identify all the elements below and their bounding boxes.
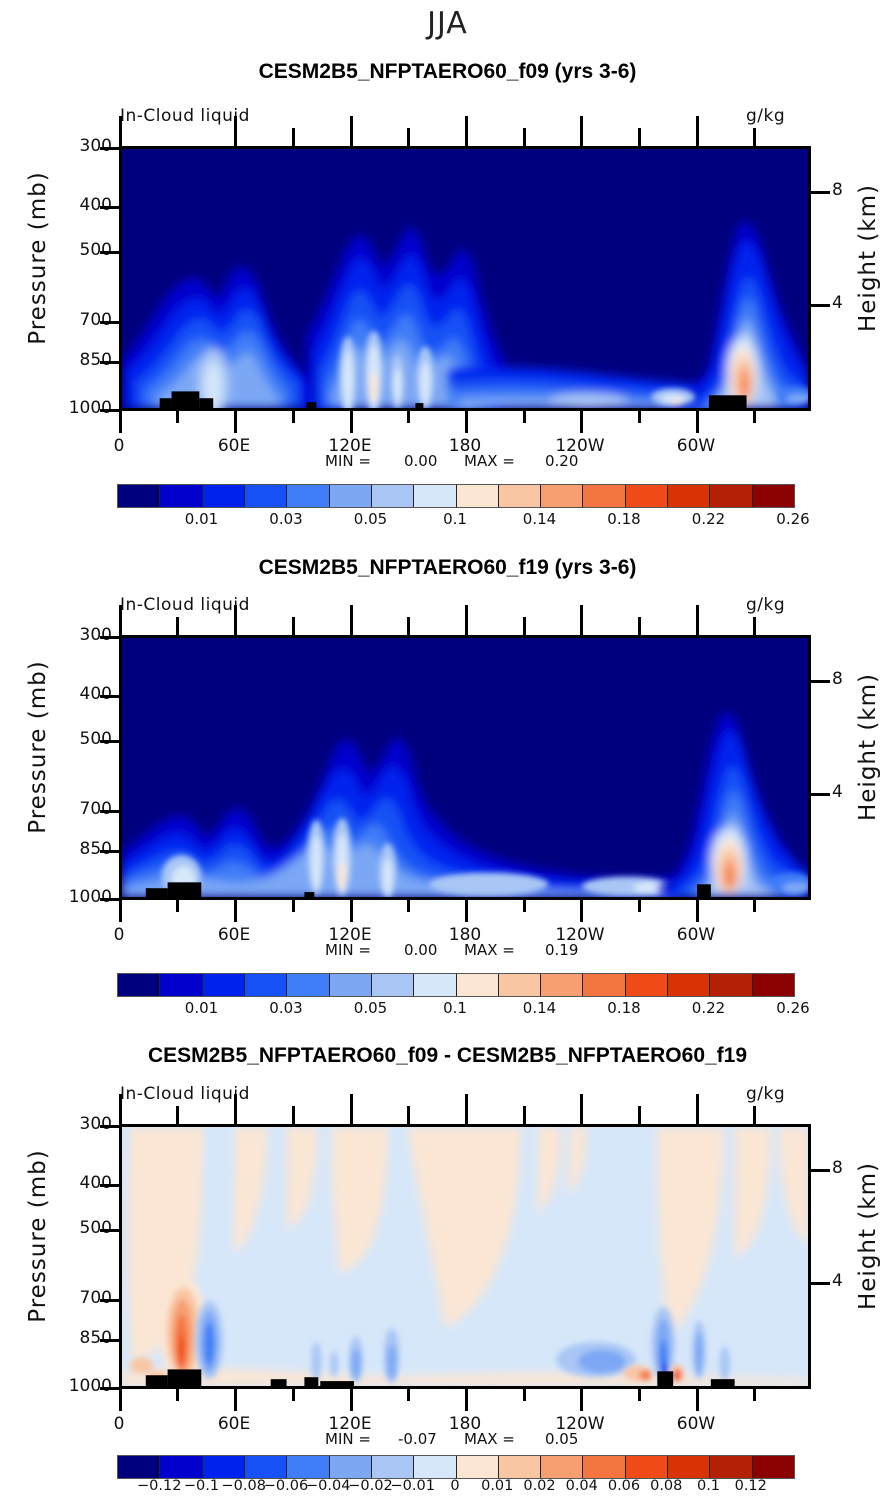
panel-3-xtick-0 xyxy=(119,1389,122,1411)
panel-3-xtick-120E xyxy=(350,1389,353,1411)
colorbar-segment-5 xyxy=(330,485,372,507)
colorbar-tick-label: 0.22 xyxy=(692,510,725,528)
colorbar-segment-10 xyxy=(541,974,583,996)
panel-3-y2tick-4: 4 xyxy=(832,1271,843,1291)
panel-2-xtick-top-120W xyxy=(580,605,583,635)
panel-3-xtick-top-180 xyxy=(465,1094,468,1124)
panel-2-ytick-mark-300 xyxy=(100,636,122,639)
panel-3-xtick-top-minor-a xyxy=(176,1106,179,1124)
colorbar-tick-label: 0.12 xyxy=(735,1478,767,1494)
panel-3-xtick-minor-d xyxy=(523,1389,526,1401)
panel-1-xtick-top-0 xyxy=(119,116,122,146)
colorbar-tick-label: 0.1 xyxy=(443,999,467,1017)
panel-1-xtick-top-120W xyxy=(580,116,583,146)
panel-2-units-label: g/kg xyxy=(746,595,785,615)
panel-1-ytick-mark-1000 xyxy=(100,409,122,412)
colorbar-tick-label: 0.03 xyxy=(269,510,302,528)
panel-2-xlabel-60E: 60E xyxy=(204,925,264,945)
panel-1-xtick-minor-b xyxy=(292,411,295,423)
panel-3-xtick-minor-c xyxy=(407,1389,410,1401)
panel-3-xtick-top-120W xyxy=(580,1094,583,1124)
panel-2-xtick-top-60E xyxy=(234,605,237,635)
colorbar-tick-label: 0.26 xyxy=(776,999,809,1017)
panel-2-colorbar[interactable] xyxy=(117,973,795,997)
panel-2-xtick-60W xyxy=(696,900,699,922)
panel-3-ytick-500: 500 xyxy=(66,1218,112,1238)
panel-3-ytick-mark-700 xyxy=(100,1299,122,1302)
colorbar-segment-13 xyxy=(668,1456,710,1478)
panel-3-ytick-400: 400 xyxy=(66,1173,112,1193)
colorbar-segment-15 xyxy=(753,485,794,507)
panel-3-xtick-top-0 xyxy=(119,1094,122,1124)
panel-3-ytick-850: 850 xyxy=(66,1328,112,1348)
colorbar-segment-5 xyxy=(330,974,372,996)
panel-2-xtick-minor-f xyxy=(753,900,756,912)
colorbar-tick-label: 0.14 xyxy=(523,510,556,528)
panel-3-ytick-mark-850 xyxy=(100,1339,122,1342)
panel-3-max-value: 0.05 xyxy=(545,1430,578,1448)
colorbar-segment-14 xyxy=(710,485,752,507)
colorbar-tick-label: 0.05 xyxy=(354,510,387,528)
panel-2-ytick-mark-1000 xyxy=(100,898,122,901)
colorbar-tick-label: 0.22 xyxy=(692,999,725,1017)
panel-1-units-label: g/kg xyxy=(746,106,785,126)
panel-2-max-label: MAX = xyxy=(464,941,515,959)
panel-1-xtick-top-minor-6 xyxy=(753,128,756,146)
panel-2-ytick-700: 700 xyxy=(66,799,112,819)
panel-3-xtick-120W xyxy=(580,1389,583,1411)
panel-3-variable-label: In-Cloud liquid xyxy=(120,1084,250,1104)
colorbar-segment-5 xyxy=(330,1456,372,1478)
panel-3-title: CESM2B5_NFPTAERO60_f09 - CESM2B5_NFPTAER… xyxy=(0,1044,895,1068)
panel-1-ytick-mark-500 xyxy=(100,251,122,254)
panel-1-ytick-700: 700 xyxy=(66,310,112,330)
panel-3-units-label: g/kg xyxy=(746,1084,785,1104)
colorbar-segment-14 xyxy=(710,974,752,996)
panel-3-plot-area[interactable] xyxy=(119,1124,811,1389)
panel-1-xtick-minor-f xyxy=(753,411,756,423)
panel-2-xtick-minor-e xyxy=(638,900,641,912)
panel-1-xtick-120E xyxy=(350,411,353,433)
panel-2-y2tick-mark-4 xyxy=(808,793,830,796)
panel-3-xlabel-0: 0 xyxy=(99,1414,139,1434)
colorbar-tick-label: 0.1 xyxy=(443,510,467,528)
panel-2-title: CESM2B5_NFPTAERO60_f19 (yrs 3-6) xyxy=(0,556,895,580)
colorbar-segment-2 xyxy=(203,485,245,507)
panel-3-difference-field xyxy=(122,1127,808,1386)
panel-3-y2tick-mark-8 xyxy=(808,1169,830,1172)
colorbar-tick-label: −0.01 xyxy=(391,1478,435,1494)
colorbar-tick-label: 0.18 xyxy=(607,999,640,1017)
panel-1-ytick-850: 850 xyxy=(66,350,112,370)
panel-1-ytick-mark-700 xyxy=(100,321,122,324)
panel-1-xtick-top-60W xyxy=(696,116,699,146)
colorbar-segment-12 xyxy=(626,974,668,996)
panel-2-xtick-0 xyxy=(119,900,122,922)
colorbar-tick-label: 0.1 xyxy=(697,1478,720,1494)
colorbar-tick-label: 0.04 xyxy=(566,1478,598,1494)
panel-2-ytick-mark-850 xyxy=(100,850,122,853)
panel-1-ytick-mark-850 xyxy=(100,361,122,364)
panel-2-xtick-120W xyxy=(580,900,583,922)
panel-1-max-label: MAX = xyxy=(464,452,515,470)
panel-2-max-value: 0.19 xyxy=(545,941,578,959)
colorbar-segment-3 xyxy=(245,485,287,507)
colorbar-segment-3 xyxy=(245,974,287,996)
panel-3-xtick-top-minor-c xyxy=(407,1106,410,1124)
panel-2-ytick-1000: 1000 xyxy=(58,887,112,907)
panel-3-xtick-top-minor-b xyxy=(292,1106,295,1124)
panel-3-xlabel-60W: 60W xyxy=(666,1414,726,1434)
panel-2-variable-label: In-Cloud liquid xyxy=(120,595,250,615)
panel-3-xtick-top-minor-f xyxy=(753,1106,756,1124)
panel-1-xtick-top-60E xyxy=(234,116,237,146)
panel-1-colorbar[interactable] xyxy=(117,484,795,508)
panel-3-xlabel-60E: 60E xyxy=(204,1414,264,1434)
panel-2-ytick-400: 400 xyxy=(66,684,112,704)
colorbar-segment-1 xyxy=(160,1456,202,1478)
panel-1-min-label: MIN = xyxy=(325,452,371,470)
panel-2-xtick-minor-c xyxy=(407,900,410,912)
colorbar-segment-12 xyxy=(626,485,668,507)
colorbar-segment-2 xyxy=(203,1456,245,1478)
colorbar-segment-2 xyxy=(203,974,245,996)
colorbar-segment-8 xyxy=(457,485,499,507)
panel-3-xtick-top-minor-e xyxy=(638,1106,641,1124)
panel-1-xtick-60E xyxy=(234,411,237,433)
panel-1-contour-field xyxy=(122,149,808,408)
panel-2-min-value: 0.00 xyxy=(404,941,437,959)
panel-2-y2axis-title: Height (km) xyxy=(855,647,881,847)
colorbar-segment-11 xyxy=(583,974,625,996)
colorbar-tick-label: 0.01 xyxy=(185,999,218,1017)
colorbar-segment-9 xyxy=(499,485,541,507)
panel-3-colorbar[interactable] xyxy=(117,1455,795,1479)
panel-2-ytick-mark-500 xyxy=(100,740,122,743)
panel-1-ytick-1000: 1000 xyxy=(58,398,112,418)
panel-3-yaxis-title: Pressure (mb) xyxy=(25,1136,51,1336)
panel-2-colorbar-labels: 0.010.030.050.10.140.180.220.26 xyxy=(117,999,793,1019)
colorbar-tick-label: −0.02 xyxy=(348,1478,392,1494)
colorbar-segment-14 xyxy=(710,1456,752,1478)
colorbar-segment-6 xyxy=(372,974,414,996)
colorbar-segment-0 xyxy=(118,485,160,507)
colorbar-segment-3 xyxy=(245,1456,287,1478)
colorbar-tick-label: −0.06 xyxy=(264,1478,308,1494)
panel-1-plot-area[interactable] xyxy=(119,146,811,411)
panel-2-xtick-minor-a xyxy=(176,900,179,912)
panel-3-xtick-top-60W xyxy=(696,1094,699,1124)
panel-2-xtick-minor-d xyxy=(523,900,526,912)
panel-2-xtick-top-60W xyxy=(696,605,699,635)
colorbar-tick-label: 0.26 xyxy=(776,510,809,528)
panel-3-y2tick-8: 8 xyxy=(832,1158,843,1178)
panel-1-ytick-400: 400 xyxy=(66,195,112,215)
colorbar-segment-11 xyxy=(583,1456,625,1478)
panel-3-colorbar-labels: −0.12−0.1−0.08−0.06−0.04−0.02−0.0100.010… xyxy=(117,1478,793,1496)
panel-1-y2tick-8: 8 xyxy=(832,180,843,200)
colorbar-segment-13 xyxy=(668,485,710,507)
panel-1-xlabel-0: 0 xyxy=(99,436,139,456)
panel-1-xtick-minor-e xyxy=(638,411,641,423)
panel-2-xtick-120E xyxy=(350,900,353,922)
panel-3-xtick-60W xyxy=(696,1389,699,1411)
panel-1-xtick-top-minor-3 xyxy=(407,128,410,146)
panel-2-xtick-minor-b xyxy=(292,900,295,912)
panel-2-ytick-500: 500 xyxy=(66,729,112,749)
colorbar-tick-label: −0.1 xyxy=(184,1478,219,1494)
colorbar-segment-0 xyxy=(118,974,160,996)
colorbar-segment-6 xyxy=(372,485,414,507)
panel-1-xlabel-60E: 60E xyxy=(204,436,264,456)
colorbar-segment-6 xyxy=(372,1456,414,1478)
panel-3-min-value: -0.07 xyxy=(398,1430,437,1448)
colorbar-segment-8 xyxy=(457,1456,499,1478)
panel-1-min-value: 0.00 xyxy=(404,452,437,470)
colorbar-segment-4 xyxy=(287,974,329,996)
panel-3-xtick-minor-f xyxy=(753,1389,756,1401)
panel-3-y2axis-title: Height (km) xyxy=(855,1136,881,1336)
panel-1-ytick-300: 300 xyxy=(66,136,112,156)
panel-1-ytick-mark-400 xyxy=(100,206,122,209)
panel-2-xtick-top-120E xyxy=(350,605,353,635)
panel-1-xtick-minor-d xyxy=(523,411,526,423)
colorbar-segment-4 xyxy=(287,1456,329,1478)
panel-3-ytick-mark-300 xyxy=(100,1125,122,1128)
panel-2-ytick-300: 300 xyxy=(66,625,112,645)
panel-1-xtick-top-180 xyxy=(465,116,468,146)
panel-3-xtick-top-minor-d xyxy=(523,1106,526,1124)
colorbar-segment-13 xyxy=(668,974,710,996)
panel-1-xtick-0 xyxy=(119,411,122,433)
colorbar-tick-label: 0.14 xyxy=(523,999,556,1017)
colorbar-tick-label: −0.12 xyxy=(137,1478,181,1494)
colorbar-tick-label: 0.08 xyxy=(650,1478,682,1494)
colorbar-tick-label: −0.08 xyxy=(222,1478,266,1494)
panel-3-xtick-minor-e xyxy=(638,1389,641,1401)
panel-3-y2tick-mark-4 xyxy=(808,1282,830,1285)
colorbar-segment-9 xyxy=(499,974,541,996)
panel-1-title: CESM2B5_NFPTAERO60_f09 (yrs 3-6) xyxy=(0,60,895,84)
panel-2-ytick-850: 850 xyxy=(66,839,112,859)
panel-1-ytick-mark-300 xyxy=(100,147,122,150)
panel-2-min-label: MIN = xyxy=(325,941,371,959)
colorbar-segment-9 xyxy=(499,1456,541,1478)
panel-3-xtick-60E xyxy=(234,1389,237,1411)
colorbar-segment-7 xyxy=(414,1456,456,1478)
panel-2-y2tick-mark-8 xyxy=(808,680,830,683)
panel-2-y2tick-4: 4 xyxy=(832,782,843,802)
panel-1-variable-label: In-Cloud liquid xyxy=(120,106,250,126)
panel-1-xlabel-60W: 60W xyxy=(666,436,726,456)
panel-2-xtick-top-minor-f xyxy=(753,617,756,635)
colorbar-segment-11 xyxy=(583,485,625,507)
panel-2-ytick-mark-700 xyxy=(100,810,122,813)
colorbar-tick-label: 0.01 xyxy=(185,510,218,528)
colorbar-tick-label: 0.03 xyxy=(269,999,302,1017)
colorbar-tick-label: −0.04 xyxy=(306,1478,350,1494)
colorbar-segment-12 xyxy=(626,1456,668,1478)
colorbar-segment-7 xyxy=(414,974,456,996)
panel-3-xtick-minor-a xyxy=(176,1389,179,1401)
colorbar-segment-10 xyxy=(541,485,583,507)
panel-1-y2axis-title: Height (km) xyxy=(855,158,881,358)
panel-2-yaxis-title: Pressure (mb) xyxy=(25,647,51,847)
panel-1-ytick-500: 500 xyxy=(66,240,112,260)
colorbar-segment-15 xyxy=(753,974,794,996)
panel-2-xtick-top-180 xyxy=(465,605,468,635)
panel-3-max-label: MAX = xyxy=(464,1430,515,1448)
panel-2-xtick-top-minor-c xyxy=(407,617,410,635)
colorbar-segment-4 xyxy=(287,485,329,507)
panel-1-xtick-minor-c xyxy=(407,411,410,423)
panel-2-xtick-top-minor-d xyxy=(523,617,526,635)
panel-1-xtick-120W xyxy=(580,411,583,433)
colorbar-segment-8 xyxy=(457,974,499,996)
panel-3-ytick-mark-1000 xyxy=(100,1387,122,1390)
panel-1-xtick-minor-a xyxy=(176,411,179,423)
colorbar-segment-10 xyxy=(541,1456,583,1478)
panel-2-xtick-60E xyxy=(234,900,237,922)
colorbar-segment-1 xyxy=(160,974,202,996)
panel-1-xtick-180 xyxy=(465,411,468,433)
panel-1-yaxis-title: Pressure (mb) xyxy=(25,158,51,358)
panel-1-xtick-top-minor-4 xyxy=(523,128,526,146)
panel-2-xlabel-60W: 60W xyxy=(666,925,726,945)
panel-2-xlabel-0: 0 xyxy=(99,925,139,945)
panel-2-xtick-top-minor-b xyxy=(292,617,295,635)
panel-3-xtick-top-120E xyxy=(350,1094,353,1124)
panel-2-xtick-top-0 xyxy=(119,605,122,635)
panel-2-plot-area[interactable] xyxy=(119,635,811,900)
colorbar-tick-label: 0.05 xyxy=(354,999,387,1017)
colorbar-segment-15 xyxy=(753,1456,794,1478)
panel-1-xtick-top-120E xyxy=(350,116,353,146)
colorbar-segment-0 xyxy=(118,1456,160,1478)
panel-1-y2tick-mark-4 xyxy=(808,304,830,307)
panel-3-ytick-300: 300 xyxy=(66,1114,112,1134)
panel-3-ytick-1000: 1000 xyxy=(58,1376,112,1396)
panel-3-ytick-mark-500 xyxy=(100,1229,122,1232)
panel-3-ytick-mark-400 xyxy=(100,1184,122,1187)
season-title: JJA xyxy=(0,6,895,41)
colorbar-tick-label: 0.02 xyxy=(523,1478,555,1494)
panel-1-max-value: 0.20 xyxy=(545,452,578,470)
panel-2-xtick-top-minor-a xyxy=(176,617,179,635)
panel-1-xtick-top-minor-2 xyxy=(292,128,295,146)
panel-3-xtick-top-60E xyxy=(234,1094,237,1124)
panel-3-xtick-minor-b xyxy=(292,1389,295,1401)
panel-2-ytick-mark-400 xyxy=(100,695,122,698)
panel-2-xtick-180 xyxy=(465,900,468,922)
panel-1-xtick-60W xyxy=(696,411,699,433)
colorbar-tick-label: 0.06 xyxy=(608,1478,640,1494)
panel-1-xtick-top-minor-5 xyxy=(638,128,641,146)
panel-2-y2tick-8: 8 xyxy=(832,669,843,689)
colorbar-tick-label: 0 xyxy=(450,1478,459,1494)
colorbar-segment-1 xyxy=(160,485,202,507)
colorbar-segment-7 xyxy=(414,485,456,507)
panel-2-contour-field xyxy=(122,638,808,897)
colorbar-tick-label: 0.01 xyxy=(481,1478,513,1494)
panel-2-xtick-top-minor-e xyxy=(638,617,641,635)
panel-3-min-label: MIN = xyxy=(325,1430,371,1448)
panel-1-colorbar-labels: 0.010.030.050.10.140.180.220.26 xyxy=(117,510,793,530)
panel-1-y2tick-mark-8 xyxy=(808,191,830,194)
colorbar-tick-label: 0.18 xyxy=(607,510,640,528)
panel-3-xtick-180 xyxy=(465,1389,468,1411)
panel-3-ytick-700: 700 xyxy=(66,1288,112,1308)
panel-1-y2tick-4: 4 xyxy=(832,293,843,313)
